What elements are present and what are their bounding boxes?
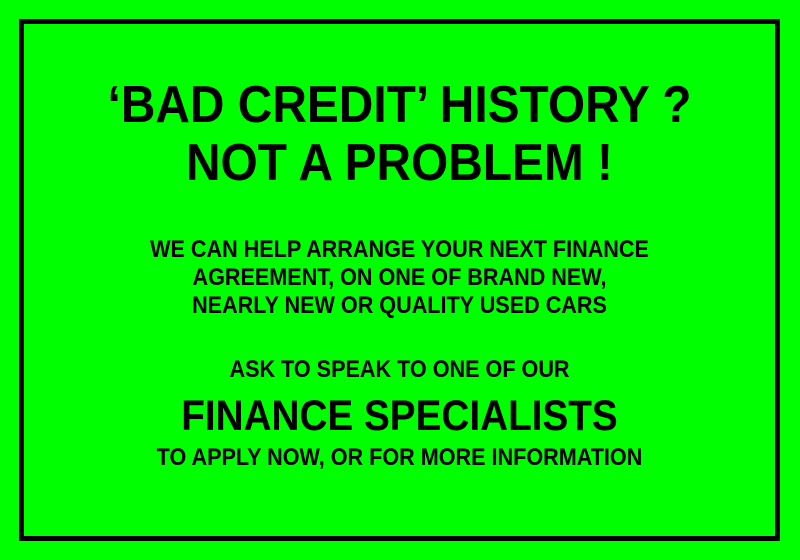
body-line-3: NEARLY NEW OR QUALITY USED CARS [62,292,738,320]
ask-block: ASK TO SPEAK TO ONE OF OUR [24,320,775,384]
headline-block: ‘BAD CREDIT’ HISTORY ? NOT A PROBLEM ! [24,24,775,192]
closing-block: TO APPLY NOW, OR FOR MORE INFORMATION [24,440,775,472]
body-line-2: AGREEMENT, ON ONE OF BRAND NEW, [62,264,738,292]
poster-content: ‘BAD CREDIT’ HISTORY ? NOT A PROBLEM ! W… [24,24,775,536]
headline-line-bad-credit-history: ‘BAD CREDIT’ HISTORY ? [54,76,745,134]
headline-line-not-a-problem: NOT A PROBLEM ! [54,134,745,192]
apply-now-line: TO APPLY NOW, OR FOR MORE INFORMATION [62,444,738,472]
body-text-block: WE CAN HELP ARRANGE YOUR NEXT FINANCE AG… [24,192,775,320]
feature-block: FINANCE SPECIALISTS [24,384,775,440]
ask-to-speak-line: ASK TO SPEAK TO ONE OF OUR [62,356,738,384]
advertisement-poster: ‘BAD CREDIT’ HISTORY ? NOT A PROBLEM ! W… [0,0,800,560]
finance-specialists-line: FINANCE SPECIALISTS [62,392,738,440]
body-line-1: WE CAN HELP ARRANGE YOUR NEXT FINANCE [62,236,738,264]
